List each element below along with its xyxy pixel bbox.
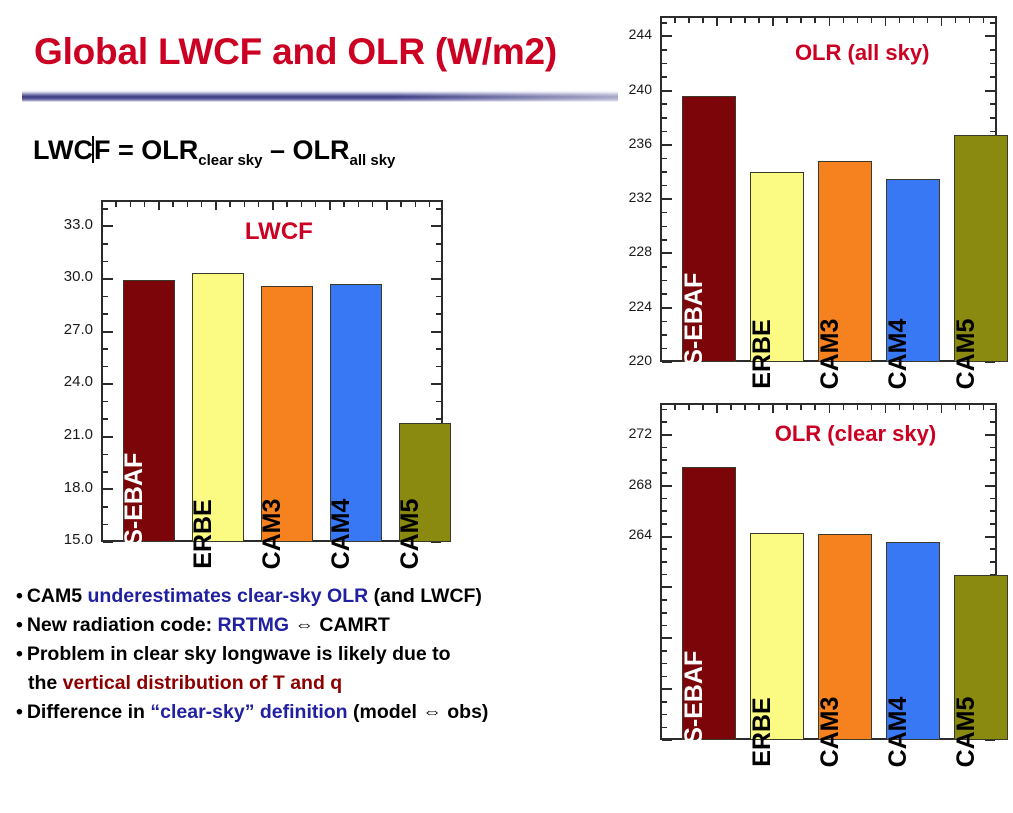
axis-tick-top — [716, 405, 718, 413]
bullet-item: •Problem in clear sky longwave is likely… — [16, 640, 656, 669]
axis-tick — [662, 739, 672, 741]
axis-tick — [662, 574, 667, 576]
axis-tick — [662, 586, 672, 588]
axis-tick — [985, 485, 995, 487]
axis-tick-top — [983, 405, 985, 410]
axis-tick-top — [941, 405, 943, 413]
bullet-marker-icon: • — [16, 585, 23, 607]
bullet-marker-icon: • — [16, 614, 23, 636]
axis-tick-top — [730, 405, 732, 410]
axis-tick-top — [772, 405, 774, 413]
bullet-item: •CAM5 underestimates clear-sky OLR (and … — [16, 582, 656, 611]
bullet-text-segment: underestimates clear-sky OLR — [88, 585, 369, 607]
axis-tick-top — [758, 405, 760, 410]
axis-tick-top — [843, 405, 845, 410]
y-axis-tick-label: 264 — [629, 526, 652, 542]
axis-tick — [662, 599, 667, 601]
bullet-marker-icon: • — [16, 643, 23, 665]
bar-label-cam4: CAM4 — [884, 697, 913, 768]
axis-tick — [662, 459, 667, 461]
axis-tick — [662, 561, 667, 563]
axis-tick-top — [913, 405, 915, 410]
axis-tick — [990, 421, 995, 423]
axis-tick — [662, 498, 667, 500]
axis-tick-top — [885, 405, 887, 413]
axis-tick — [990, 561, 995, 563]
axis-tick-top — [814, 405, 816, 410]
axis-tick — [662, 485, 672, 487]
bar-label-cam3: CAM3 — [816, 697, 845, 768]
bullet-item: the vertical distribution of T and q — [16, 669, 656, 698]
axis-tick — [662, 409, 667, 411]
bullet-text-segment: CAM5 — [27, 585, 88, 607]
axis-tick — [662, 625, 667, 627]
chart-title-olr_clear_sky: OLR (clear sky) — [775, 421, 936, 447]
axis-tick — [662, 663, 667, 665]
axis-tick-top — [744, 405, 746, 410]
axis-tick — [662, 676, 667, 678]
axis-tick — [662, 714, 667, 716]
axis-tick-top — [857, 405, 859, 410]
axis-tick — [990, 510, 995, 512]
axis-tick-top — [927, 405, 929, 410]
axis-tick — [662, 650, 667, 652]
axis-tick — [985, 434, 995, 436]
bullet-list: •CAM5 underestimates clear-sky OLR (and … — [16, 582, 656, 727]
axis-tick — [662, 688, 672, 690]
bar-label-erbe: ERBE — [748, 697, 777, 766]
axis-tick — [990, 498, 995, 500]
axis-tick-top — [871, 405, 873, 410]
axis-tick — [990, 459, 995, 461]
axis-tick — [662, 421, 667, 423]
bullet-marker-icon: • — [16, 701, 23, 723]
bullet-item: •Difference in “clear-sky” definition (m… — [16, 698, 656, 727]
axis-tick — [990, 447, 995, 449]
axis-tick — [662, 447, 667, 449]
bullet-text-segment: (and LWCF) — [368, 585, 482, 607]
axis-tick-top — [786, 405, 788, 410]
axis-tick — [662, 548, 667, 550]
axis-tick-top — [899, 405, 901, 410]
axis-tick — [662, 434, 672, 436]
axis-tick-top — [969, 405, 971, 410]
axis-tick — [990, 548, 995, 550]
axis-tick — [662, 523, 667, 525]
bullet-text-segment: Difference in — [27, 701, 151, 723]
y-axis-tick-label: 272 — [629, 425, 652, 441]
axis-tick-top — [955, 405, 957, 410]
axis-tick — [985, 536, 995, 538]
axis-tick-top — [829, 405, 831, 413]
bullet-text-segment: the — [28, 672, 63, 694]
axis-tick-top — [800, 405, 802, 410]
axis-tick — [990, 472, 995, 474]
bullet-text-segment: Problem in clear sky longwave is likely … — [27, 643, 451, 665]
bar-label-cam5: CAM5 — [952, 697, 981, 768]
bullet-text-segment: ⇔ CAMRT — [289, 614, 390, 636]
axis-tick-top — [674, 405, 676, 410]
bar-label-ceres-ebaf: CERES-EBAF — [680, 651, 709, 813]
bullet-text-segment: vertical distribution of T and q — [63, 672, 343, 694]
axis-tick — [662, 701, 667, 703]
axis-tick — [990, 409, 995, 411]
axis-tick — [990, 523, 995, 525]
axis-tick — [662, 472, 667, 474]
bullet-text-segment: “clear-sky” definition — [150, 701, 347, 723]
axis-tick-top — [688, 405, 690, 410]
bullet-text-segment: New radiation code: — [27, 614, 218, 636]
axis-tick — [662, 637, 672, 639]
y-axis-tick-label: 268 — [629, 476, 652, 492]
axis-tick — [662, 727, 667, 729]
axis-tick — [662, 536, 672, 538]
axis-tick — [662, 612, 667, 614]
bullet-text-segment: RRTMG — [218, 614, 290, 636]
bullet-item: •New radiation code: RRTMG ⇔ CAMRT — [16, 611, 656, 640]
bullet-text-segment: (model ⇔ obs) — [348, 701, 489, 723]
axis-tick-top — [702, 405, 704, 410]
axis-tick — [662, 510, 667, 512]
